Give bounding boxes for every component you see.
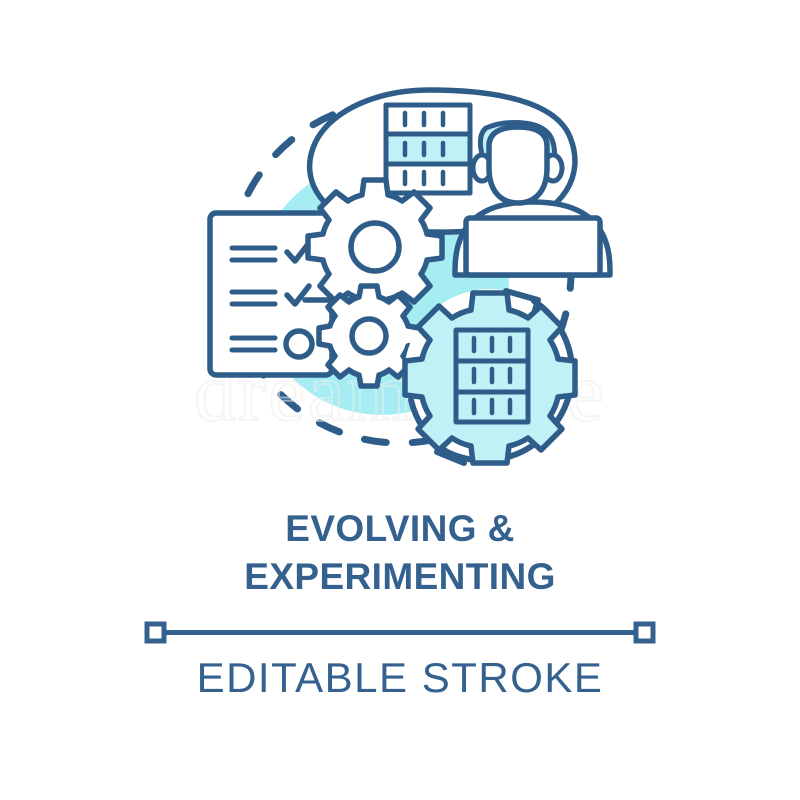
editable-stroke-label-wrap: EDITABLE STROKE	[0, 650, 800, 706]
concept-illustration: dreamstime	[0, 0, 800, 500]
concept-title: EVOLVING & EXPERIMENTING	[0, 505, 800, 601]
server-rack-gear	[456, 330, 528, 422]
editable-stroke-bar	[0, 612, 800, 652]
concept-title-line-2: EXPERIMENTING	[0, 553, 800, 601]
stroke-handle-left	[147, 624, 164, 641]
stroke-handle-right	[636, 624, 653, 641]
server-rack-bubble	[386, 105, 470, 193]
editable-stroke-label: EDITABLE STROKE	[0, 650, 800, 706]
concept-title-line-1: EVOLVING &	[0, 505, 800, 553]
illustration-page: dreamstime	[0, 0, 800, 800]
